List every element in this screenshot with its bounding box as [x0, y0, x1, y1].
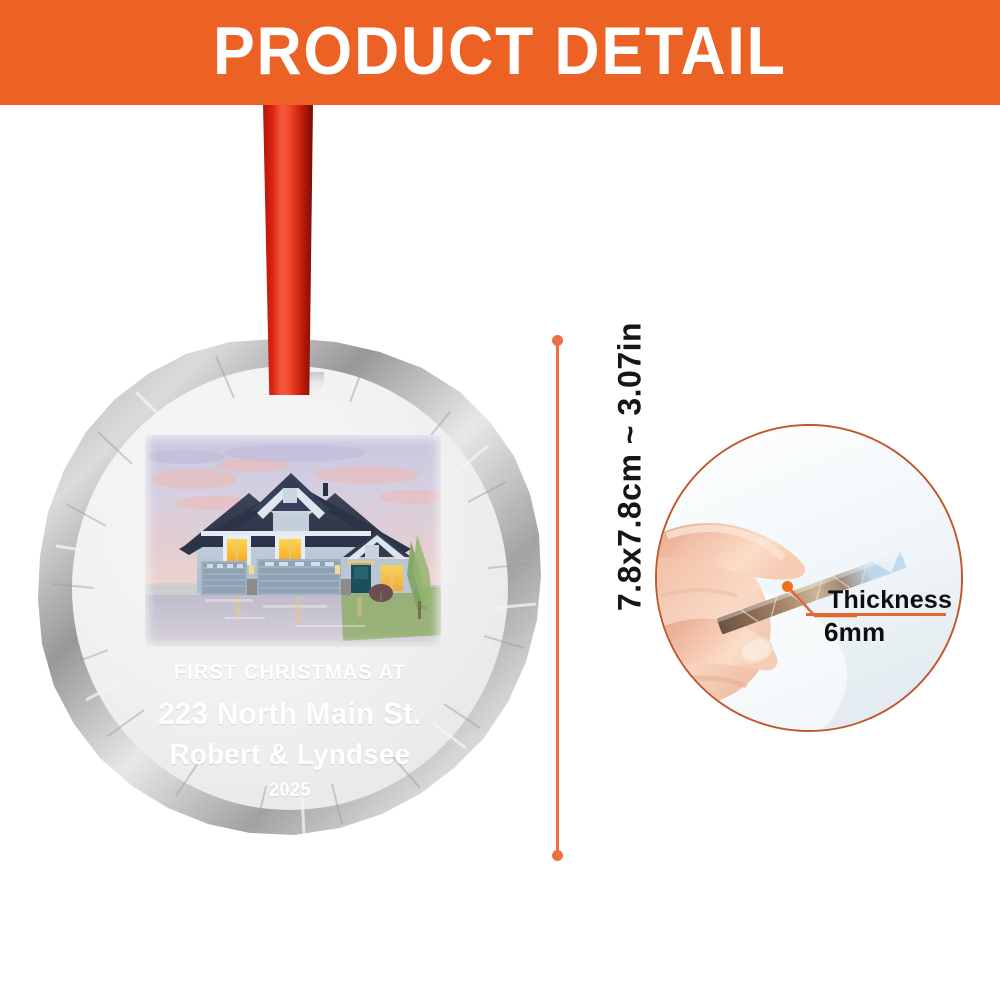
dimension-line: [556, 340, 559, 855]
header-banner: PRODUCT DETAIL: [0, 0, 1000, 105]
ribbon: [262, 105, 314, 395]
thickness-value: 6mm: [824, 617, 885, 648]
house-photo-image: [145, 435, 441, 647]
dimension-endpoint-bottom-icon: [552, 850, 563, 861]
engraved-line-1: FIRST CHRISTMAS AT: [73, 661, 506, 685]
thickness-callout-point-icon: [782, 581, 793, 592]
thickness-inset: [655, 424, 963, 732]
ribbon-highlight: [262, 105, 314, 395]
glass-ornament: FIRST CHRISTMAS AT 223 North Main St. Ro…: [36, 336, 544, 852]
hand-holding-glass-edge: [657, 426, 963, 732]
engraved-line-3: Robert & Lyndsee: [73, 739, 506, 772]
product-detail-page: PRODUCT DETAIL: [0, 0, 1000, 1000]
engraved-line-2: 223 North Main St.: [73, 696, 506, 732]
dimension-label: 7.8x7.8cm ~ 3.07in: [612, 317, 649, 617]
thickness-caption: Thickness: [828, 586, 952, 615]
engraved-line-4: 2025: [73, 780, 506, 802]
page-title: PRODUCT DETAIL: [213, 17, 787, 89]
house-photo: [145, 435, 441, 647]
thickness-underline: [806, 613, 946, 616]
dimension-endpoint-top-icon: [552, 335, 563, 346]
